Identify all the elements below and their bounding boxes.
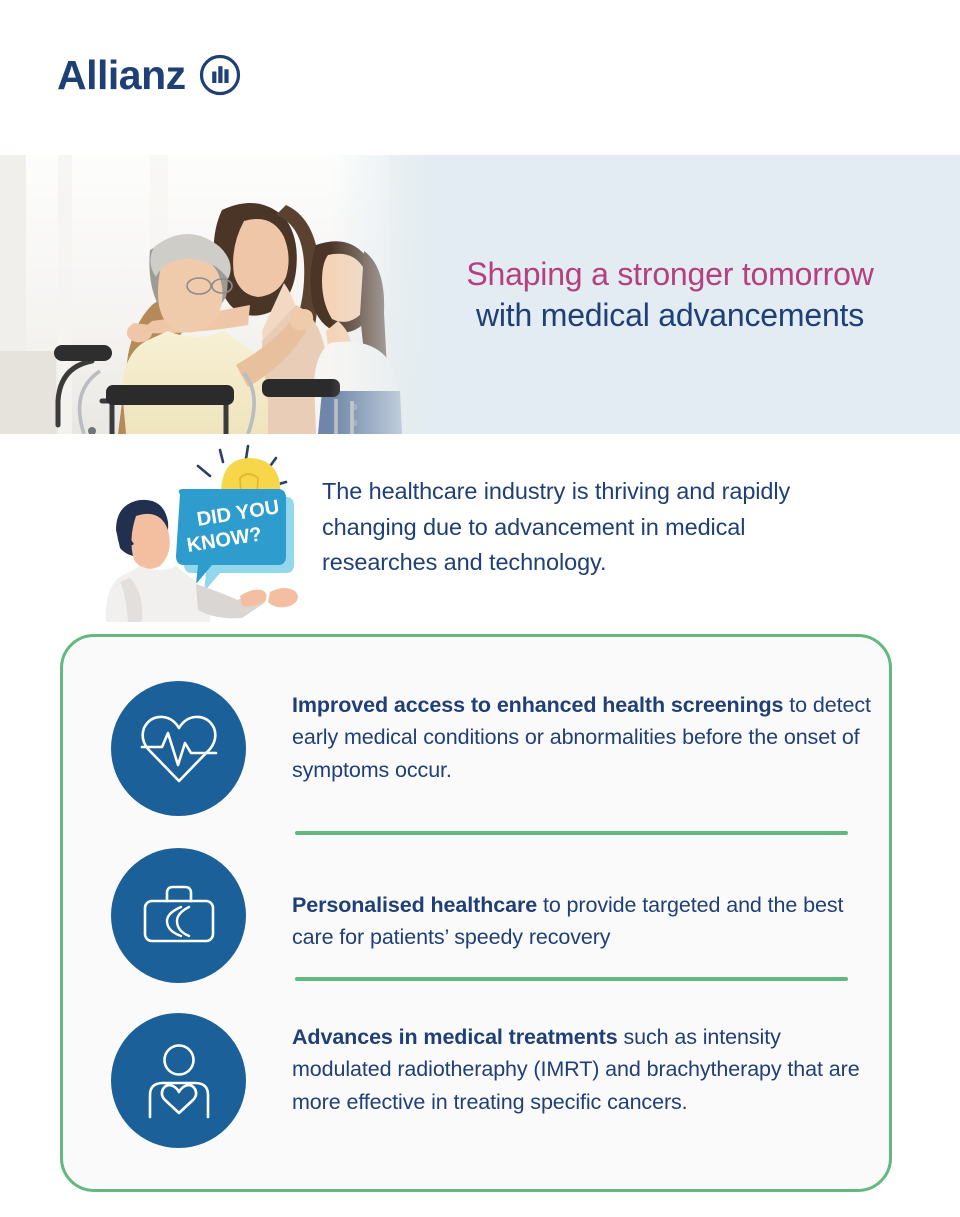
- allianz-logo[interactable]: Allianz: [57, 54, 241, 96]
- did-you-know-illustration: DID YOU KNOW?: [100, 442, 310, 622]
- list-item-text: Advances in medical treatments such as i…: [292, 1021, 872, 1118]
- brand-name: Allianz: [57, 55, 186, 96]
- headline-line-2: with medical advancements: [476, 295, 864, 336]
- divider: [295, 977, 848, 981]
- hero-banner: Shaping a stronger tomorrow with medical…: [0, 155, 960, 434]
- benefits-list: Improved access to enhanced health scree…: [63, 637, 889, 1189]
- allianz-bar-circle-icon: [199, 54, 241, 96]
- heart-pulse-icon: [111, 681, 246, 816]
- benefits-card: Improved access to enhanced health scree…: [60, 634, 892, 1192]
- list-item-text: Improved access to enhanced health scree…: [292, 689, 872, 786]
- infographic-page: Allianz: [0, 0, 960, 1217]
- intro-paragraph: The healthcare industry is thriving and …: [322, 474, 862, 581]
- headline-line-1: Shaping a stronger tomorrow: [466, 254, 873, 295]
- header-bar: Allianz: [0, 0, 960, 155]
- person-heart-icon: [111, 1013, 246, 1148]
- divider: [295, 831, 848, 835]
- list-item-bold: Personalised healthcare: [292, 893, 537, 917]
- list-item-bold: Improved access to enhanced health scree…: [292, 693, 783, 717]
- list-item-text: Personalised healthcare to provide targe…: [292, 889, 872, 954]
- intro-section: DID YOU KNOW? The healthcare industry is…: [0, 434, 960, 630]
- medical-bag-icon: [111, 848, 246, 983]
- list-item-bold: Advances in medical treatments: [292, 1025, 618, 1049]
- hero-headline: Shaping a stronger tomorrow with medical…: [400, 155, 940, 434]
